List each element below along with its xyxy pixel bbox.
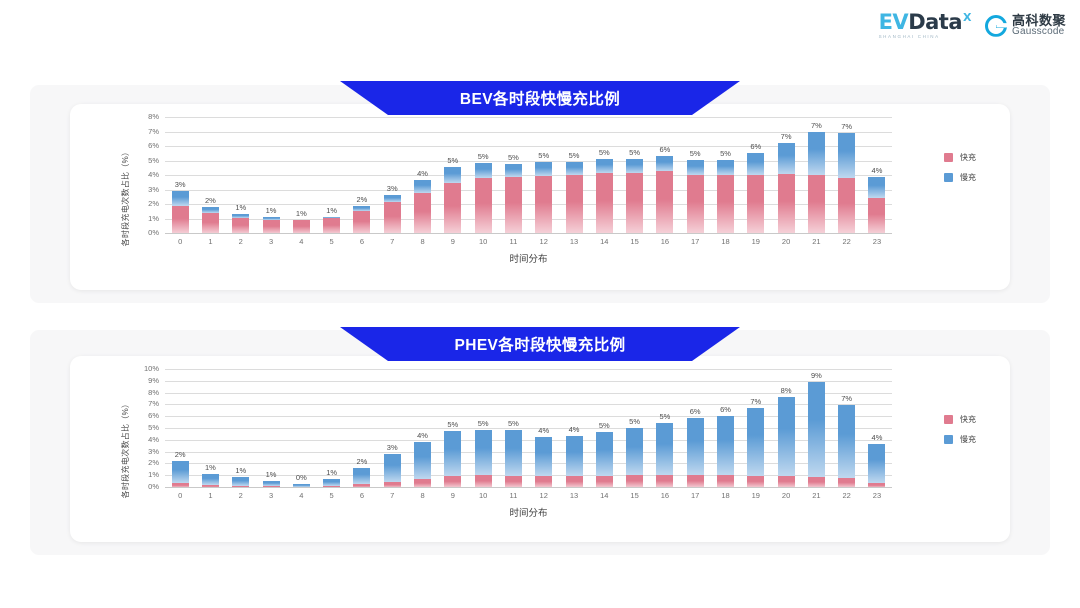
bar-value-label: 4% <box>569 425 580 434</box>
stacked-bar[interactable] <box>778 143 795 234</box>
bar-value-label: 7% <box>781 132 792 141</box>
bar-column[interactable]: 1% <box>256 370 286 488</box>
bar-segment-slow-charge[interactable] <box>778 397 795 476</box>
bar-segment-fast-charge[interactable] <box>596 173 613 234</box>
bar-segment-slow-charge[interactable] <box>475 163 492 178</box>
bar-column[interactable]: 5% <box>619 370 649 488</box>
y-axis-tick-label: 10% <box>144 364 159 373</box>
bev-chart: 各时段充电次数占比（%） 0%1%2%3%4%5%6%7%8% 3%2%1%1%… <box>70 104 1010 290</box>
stacked-bar[interactable] <box>535 437 552 488</box>
y-axis-tick-label: 7% <box>148 399 159 408</box>
stacked-bar[interactable] <box>687 160 704 234</box>
bar-column[interactable]: 3% <box>165 118 195 234</box>
stacked-bar[interactable] <box>566 162 583 235</box>
bar-segment-slow-charge[interactable] <box>444 431 461 475</box>
x-axis-tick-label: 10 <box>468 237 498 246</box>
bar-column[interactable]: 3% <box>377 370 407 488</box>
bar-segment-slow-charge[interactable] <box>717 416 734 475</box>
bar-value-label: 1% <box>266 206 277 215</box>
bar-segment-slow-charge[interactable] <box>535 437 552 477</box>
x-axis-tick-label: 6 <box>347 491 377 500</box>
bar-segment-fast-charge[interactable] <box>444 183 461 234</box>
stacked-bar[interactable] <box>596 159 613 234</box>
bar-segment-slow-charge[interactable] <box>414 180 431 193</box>
phev-legend: 快充 慢充 <box>944 414 976 445</box>
bar-segment-slow-charge[interactable] <box>232 477 249 485</box>
y-axis-tick-label: 8% <box>148 388 159 397</box>
bar-segment-slow-charge[interactable] <box>717 160 734 174</box>
bar-segment-slow-charge[interactable] <box>808 132 825 175</box>
bar-column[interactable]: 8% <box>771 370 801 488</box>
phev-legend-label-fast: 快充 <box>960 414 976 425</box>
bar-segment-fast-charge[interactable] <box>626 173 643 234</box>
y-axis-tick-label: 9% <box>148 376 159 385</box>
y-axis-tick-label: 6% <box>148 411 159 420</box>
y-axis-tick-label: 5% <box>148 423 159 432</box>
x-axis-tick-label: 23 <box>862 491 892 500</box>
bar-column[interactable]: 2% <box>347 370 377 488</box>
bar-segment-slow-charge[interactable] <box>868 177 885 198</box>
bev-bar-group: 3%2%1%1%1%1%2%3%4%5%5%5%5%5%5%5%6%5%5%6%… <box>165 118 892 234</box>
bar-column[interactable]: 7% <box>832 370 862 488</box>
bar-value-label: 4% <box>872 166 883 175</box>
bar-segment-slow-charge[interactable] <box>444 167 461 183</box>
bar-segment-fast-charge[interactable] <box>263 220 280 234</box>
bev-chart-card: 各时段充电次数占比（%） 0%1%2%3%4%5%6%7%8% 3%2%1%1%… <box>70 104 1010 290</box>
bar-column[interactable]: 2% <box>347 118 377 234</box>
bar-value-label: 5% <box>447 420 458 429</box>
bar-segment-fast-charge[interactable] <box>475 178 492 234</box>
stacked-bar[interactable] <box>656 423 673 488</box>
phev-chart: 各时段充电次数占比（%） 0%1%2%3%4%5%6%7%8%9%10% 2%1… <box>70 356 1010 542</box>
bev-legend-swatch-slow <box>944 173 953 182</box>
bar-value-label: 1% <box>326 468 337 477</box>
bar-column[interactable]: 9% <box>801 370 831 488</box>
evdata-logo-x: X <box>963 11 971 24</box>
brand-header: EVDataX SHANGHAI CHINA 高科数聚 Gausscode <box>879 12 1066 40</box>
stacked-bar[interactable] <box>596 432 613 488</box>
bar-column[interactable]: 1% <box>316 370 346 488</box>
bar-column[interactable]: 5% <box>529 118 559 234</box>
bar-column[interactable]: 4% <box>559 370 589 488</box>
bar-value-label: 4% <box>538 426 549 435</box>
bev-panel: 各时段充电次数占比（%） 0%1%2%3%4%5%6%7%8% 3%2%1%1%… <box>30 85 1050 303</box>
phev-y-axis-label: 各时段充电次数占比（%） <box>120 400 131 499</box>
bar-value-label: 5% <box>690 149 701 158</box>
bar-value-label: 6% <box>750 142 761 151</box>
bar-column[interactable]: 2% <box>165 370 195 488</box>
bar-segment-slow-charge[interactable] <box>687 418 704 475</box>
bar-column[interactable]: 5% <box>650 370 680 488</box>
bar-column[interactable]: 3% <box>377 118 407 234</box>
bar-column[interactable]: 7% <box>771 118 801 234</box>
bar-segment-fast-charge[interactable] <box>232 218 249 234</box>
phev-legend-label-slow: 慢充 <box>960 434 976 445</box>
bar-segment-fast-charge[interactable] <box>868 198 885 234</box>
x-axis-tick-label: 22 <box>832 491 862 500</box>
bar-column[interactable]: 5% <box>619 118 649 234</box>
bar-segment-fast-charge[interactable] <box>172 206 189 234</box>
stacked-bar[interactable] <box>535 162 552 235</box>
bar-column[interactable]: 5% <box>498 370 528 488</box>
bar-value-label: 5% <box>599 421 610 430</box>
bar-segment-fast-charge[interactable] <box>535 176 552 234</box>
stacked-bar[interactable] <box>838 405 855 488</box>
bar-value-label: 1% <box>235 203 246 212</box>
y-axis-tick-label: 5% <box>148 156 159 165</box>
bar-value-label: 2% <box>357 457 368 466</box>
stacked-bar[interactable] <box>475 163 492 234</box>
x-axis-tick-label: 9 <box>438 491 468 500</box>
bar-segment-fast-charge[interactable] <box>566 175 583 234</box>
bar-segment-slow-charge[interactable] <box>626 159 643 173</box>
stacked-bar[interactable] <box>778 397 795 488</box>
bev-legend: 快充 慢充 <box>944 152 976 183</box>
bar-segment-slow-charge[interactable] <box>475 430 492 475</box>
x-axis-tick-label: 7 <box>377 237 407 246</box>
bar-segment-fast-charge[interactable] <box>656 171 673 234</box>
bar-value-label: 5% <box>629 148 640 157</box>
bar-column[interactable]: 1% <box>316 118 346 234</box>
bar-segment-slow-charge[interactable] <box>172 191 189 205</box>
x-axis-tick-label: 12 <box>529 491 559 500</box>
bar-segment-fast-charge[interactable] <box>505 177 522 234</box>
stacked-bar[interactable] <box>566 436 583 488</box>
bar-segment-fast-charge[interactable] <box>384 202 401 234</box>
stacked-bar[interactable] <box>353 468 370 488</box>
bar-segment-slow-charge[interactable] <box>747 408 764 475</box>
bar-column[interactable]: 7% <box>832 118 862 234</box>
x-axis-tick-label: 14 <box>589 491 619 500</box>
stacked-bar[interactable] <box>747 408 764 488</box>
x-axis-tick-label: 5 <box>316 237 346 246</box>
stacked-bar[interactable] <box>656 156 673 234</box>
y-axis-tick-label: 3% <box>148 447 159 456</box>
bar-column[interactable]: 4% <box>529 370 559 488</box>
x-axis-tick-label: 6 <box>347 237 377 246</box>
bar-segment-slow-charge[interactable] <box>868 444 885 483</box>
bar-column[interactable]: 6% <box>710 370 740 488</box>
x-axis-tick-label: 8 <box>407 491 437 500</box>
evdata-logo-ev: EV <box>879 10 909 34</box>
bar-segment-slow-charge[interactable] <box>596 159 613 173</box>
bar-column[interactable]: 6% <box>741 118 771 234</box>
bev-legend-label-fast: 快充 <box>960 152 976 163</box>
stacked-bar[interactable] <box>505 164 522 234</box>
x-axis-tick-label: 4 <box>286 237 316 246</box>
stacked-bar[interactable] <box>323 217 340 234</box>
stacked-bar[interactable] <box>414 442 431 488</box>
stacked-bar[interactable] <box>172 191 189 234</box>
stacked-bar[interactable] <box>444 431 461 488</box>
bar-segment-fast-charge[interactable] <box>717 175 734 234</box>
bar-column[interactable]: 6% <box>650 118 680 234</box>
stacked-bar[interactable] <box>687 418 704 488</box>
bev-y-axis-label: 各时段充电次数占比（%） <box>120 148 131 247</box>
bar-value-label: 5% <box>538 151 549 160</box>
y-axis-tick-label: 0% <box>148 482 159 491</box>
bar-value-label: 2% <box>175 450 186 459</box>
bar-column[interactable]: 1% <box>256 118 286 234</box>
bar-segment-fast-charge[interactable] <box>687 175 704 234</box>
bar-column[interactable]: 5% <box>710 118 740 234</box>
bar-value-label: 3% <box>175 180 186 189</box>
bar-column[interactable]: 4% <box>862 118 892 234</box>
x-axis-tick-label: 2 <box>226 491 256 500</box>
y-axis-tick-label: 6% <box>148 141 159 150</box>
bar-value-label: 5% <box>720 149 731 158</box>
bar-value-label: 5% <box>447 156 458 165</box>
bar-value-label: 3% <box>387 443 398 452</box>
bar-value-label: 5% <box>508 419 519 428</box>
bar-column[interactable]: 1% <box>286 118 316 234</box>
bar-column[interactable]: 5% <box>438 370 468 488</box>
x-axis-tick-label: 1 <box>195 237 225 246</box>
stacked-bar[interactable] <box>384 195 401 234</box>
bar-segment-slow-charge[interactable] <box>656 156 673 171</box>
bar-segment-fast-charge[interactable] <box>293 220 310 234</box>
x-axis-tick-label: 1 <box>195 491 225 500</box>
bar-column[interactable]: 7% <box>801 118 831 234</box>
stacked-bar[interactable] <box>414 180 431 234</box>
bev-legend-item-fast[interactable]: 快充 <box>944 152 976 163</box>
bar-segment-slow-charge[interactable] <box>747 153 764 175</box>
bev-x-axis-ticks: 01234567891011121314151617181920212223 <box>165 234 892 246</box>
bar-value-label: 1% <box>205 463 216 472</box>
bar-segment-slow-charge[interactable] <box>414 442 431 479</box>
phev-legend-item-slow[interactable]: 慢充 <box>944 434 976 445</box>
x-axis-tick-label: 3 <box>256 237 286 246</box>
bar-value-label: 6% <box>690 407 701 416</box>
y-axis-tick-label: 2% <box>148 199 159 208</box>
bar-value-label: 5% <box>478 152 489 161</box>
stacked-bar[interactable] <box>868 444 885 488</box>
phev-chart-card: 各时段充电次数占比（%） 0%1%2%3%4%5%6%7%8%9%10% 2%1… <box>70 356 1010 542</box>
bar-segment-slow-charge[interactable] <box>535 162 552 177</box>
bar-segment-slow-charge[interactable] <box>384 454 401 481</box>
bar-segment-slow-charge[interactable] <box>323 479 340 486</box>
gausscode-name-cn: 高科数聚 <box>1012 14 1066 28</box>
x-axis-tick-label: 19 <box>741 491 771 500</box>
phev-plot-area: 0%1%2%3%4%5%6%7%8%9%10% 2%1%1%1%0%1%2%3%… <box>165 370 892 488</box>
bar-segment-slow-charge[interactable] <box>566 162 583 176</box>
stacked-bar[interactable] <box>626 428 643 488</box>
bar-segment-slow-charge[interactable] <box>384 195 401 202</box>
bar-value-label: 8% <box>781 386 792 395</box>
bar-column[interactable]: 5% <box>468 118 498 234</box>
x-axis-tick-label: 0 <box>165 237 195 246</box>
bar-value-label: 2% <box>205 196 216 205</box>
bar-column[interactable]: 6% <box>680 370 710 488</box>
stacked-bar[interactable] <box>475 430 492 488</box>
stacked-bar[interactable] <box>717 160 734 234</box>
bar-segment-fast-charge[interactable] <box>202 213 219 234</box>
x-axis-tick-label: 3 <box>256 491 286 500</box>
bar-segment-fast-charge[interactable] <box>808 175 825 234</box>
bar-column[interactable]: 5% <box>589 370 619 488</box>
bar-value-label: 4% <box>872 433 883 442</box>
bar-column[interactable]: 1% <box>226 370 256 488</box>
bar-segment-slow-charge[interactable] <box>808 382 825 477</box>
stacked-bar[interactable] <box>626 159 643 234</box>
bar-value-label: 5% <box>508 153 519 162</box>
bar-value-label: 9% <box>811 371 822 380</box>
bar-value-label: 0% <box>296 473 307 482</box>
x-axis-tick-label: 2 <box>226 237 256 246</box>
bar-segment-slow-charge[interactable] <box>626 428 643 475</box>
stacked-bar[interactable] <box>444 167 461 234</box>
x-axis-tick-label: 4 <box>286 491 316 500</box>
bar-value-label: 5% <box>599 148 610 157</box>
stacked-bar[interactable] <box>717 416 734 488</box>
y-axis-tick-label: 0% <box>148 228 159 237</box>
stacked-bar[interactable] <box>747 153 764 234</box>
bar-column[interactable]: 0% <box>286 370 316 488</box>
stacked-bar[interactable] <box>172 461 189 488</box>
y-axis-tick-label: 1% <box>148 214 159 223</box>
x-axis-tick-label: 16 <box>650 491 680 500</box>
y-axis-tick-label: 7% <box>148 127 159 136</box>
bar-segment-slow-charge[interactable] <box>353 468 370 484</box>
bar-column[interactable]: 4% <box>407 370 437 488</box>
x-axis-tick-label: 8 <box>407 237 437 246</box>
bar-value-label: 7% <box>841 394 852 403</box>
bar-segment-slow-charge[interactable] <box>596 432 613 476</box>
x-axis-tick-label: 10 <box>468 491 498 500</box>
bar-value-label: 5% <box>478 419 489 428</box>
x-axis-tick-label: 13 <box>559 491 589 500</box>
x-axis-tick-label: 18 <box>710 491 740 500</box>
bar-value-label: 5% <box>569 151 580 160</box>
gausscode-name-en: Gausscode <box>1012 27 1066 38</box>
x-axis-tick-label: 11 <box>498 491 528 500</box>
x-axis-tick-label: 21 <box>801 237 831 246</box>
x-axis-tick-label: 23 <box>862 237 892 246</box>
phev-x-axis-label: 时间分布 <box>165 505 892 519</box>
evdata-logo: EVDataX SHANGHAI CHINA <box>879 12 971 40</box>
stacked-bar[interactable] <box>808 132 825 234</box>
bar-column[interactable]: 5% <box>438 118 468 234</box>
phev-legend-item-fast[interactable]: 快充 <box>944 414 976 425</box>
y-axis-tick-label: 3% <box>148 185 159 194</box>
x-axis-tick-label: 12 <box>529 237 559 246</box>
x-axis-tick-label: 21 <box>801 491 831 500</box>
y-axis-tick-label: 4% <box>148 170 159 179</box>
bev-legend-item-slow[interactable]: 慢充 <box>944 172 976 183</box>
x-axis-tick-label: 22 <box>832 237 862 246</box>
bar-column[interactable]: 1% <box>195 370 225 488</box>
bar-value-label: 1% <box>266 470 277 479</box>
bev-legend-swatch-fast <box>944 153 953 162</box>
bar-value-label: 1% <box>235 466 246 475</box>
bar-segment-fast-charge[interactable] <box>323 218 340 234</box>
phev-panel: 各时段充电次数占比（%） 0%1%2%3%4%5%6%7%8%9%10% 2%1… <box>30 330 1050 555</box>
bar-segment-fast-charge[interactable] <box>353 211 370 234</box>
bar-column[interactable]: 5% <box>589 118 619 234</box>
bar-column[interactable]: 4% <box>862 370 892 488</box>
bar-value-label: 4% <box>417 169 428 178</box>
bar-column[interactable]: 7% <box>741 370 771 488</box>
y-axis-tick-label: 8% <box>148 112 159 121</box>
x-axis-tick-label: 17 <box>680 491 710 500</box>
bar-value-label: 7% <box>841 122 852 131</box>
x-axis-tick-label: 18 <box>710 237 740 246</box>
slide-page: EVDataX SHANGHAI CHINA 高科数聚 Gausscode 各时… <box>0 0 1080 608</box>
phev-legend-swatch-slow <box>944 435 953 444</box>
stacked-bar[interactable] <box>263 217 280 234</box>
bar-segment-slow-charge[interactable] <box>172 461 189 482</box>
x-axis-tick-label: 9 <box>438 237 468 246</box>
bar-segment-slow-charge[interactable] <box>778 143 795 174</box>
x-axis-tick-label: 7 <box>377 491 407 500</box>
y-axis-tick-label: 4% <box>148 435 159 444</box>
bar-segment-fast-charge[interactable] <box>838 178 855 234</box>
phev-title-ribbon: PHEV各时段快慢充比例 <box>340 327 740 361</box>
bar-column[interactable]: 5% <box>559 118 589 234</box>
stacked-bar[interactable] <box>202 207 219 234</box>
gausscode-wordmark: 高科数聚 Gausscode <box>1012 14 1066 38</box>
stacked-bar[interactable] <box>293 220 310 235</box>
bar-segment-slow-charge[interactable] <box>202 474 219 485</box>
bar-segment-slow-charge[interactable] <box>505 430 522 476</box>
bar-segment-slow-charge[interactable] <box>505 164 522 178</box>
bar-column[interactable]: 4% <box>407 118 437 234</box>
gausscode-mark-icon <box>985 15 1007 37</box>
bar-column[interactable]: 5% <box>498 118 528 234</box>
x-axis-tick-label: 19 <box>741 237 771 246</box>
bar-segment-fast-charge[interactable] <box>747 175 764 234</box>
bar-value-label: 7% <box>811 121 822 130</box>
bar-value-label: 5% <box>659 412 670 421</box>
x-axis-tick-label: 0 <box>165 491 195 500</box>
bev-plot-area: 0%1%2%3%4%5%6%7%8% 3%2%1%1%1%1%2%3%4%5%5… <box>165 118 892 234</box>
evdata-logo-tagline: SHANGHAI CHINA <box>879 35 940 40</box>
bar-segment-slow-charge[interactable] <box>687 160 704 174</box>
gausscode-logo: 高科数聚 Gausscode <box>985 14 1066 38</box>
bar-segment-fast-charge[interactable] <box>778 174 795 234</box>
bar-segment-slow-charge[interactable] <box>566 436 583 476</box>
bev-x-axis-label: 时间分布 <box>165 251 892 265</box>
bar-value-label: 4% <box>417 431 428 440</box>
x-axis-tick-label: 15 <box>619 491 649 500</box>
y-axis-tick-label: 1% <box>148 470 159 479</box>
stacked-bar[interactable] <box>838 133 855 235</box>
stacked-bar[interactable] <box>384 454 401 488</box>
bev-legend-label-slow: 慢充 <box>960 172 976 183</box>
x-axis-tick-label: 14 <box>589 237 619 246</box>
bar-segment-slow-charge[interactable] <box>838 405 855 478</box>
bar-column[interactable]: 1% <box>226 118 256 234</box>
bar-column[interactable]: 5% <box>468 370 498 488</box>
stacked-bar[interactable] <box>868 177 885 234</box>
bar-column[interactable]: 2% <box>195 118 225 234</box>
bar-value-label: 1% <box>326 206 337 215</box>
x-axis-tick-label: 5 <box>316 491 346 500</box>
bar-value-label: 5% <box>629 417 640 426</box>
stacked-bar[interactable] <box>808 382 825 488</box>
stacked-bar[interactable] <box>353 206 370 234</box>
bar-segment-slow-charge[interactable] <box>656 423 673 475</box>
bar-column[interactable]: 5% <box>680 118 710 234</box>
bar-segment-slow-charge[interactable] <box>838 133 855 179</box>
bar-value-label: 3% <box>387 184 398 193</box>
bar-value-label: 1% <box>296 209 307 218</box>
bar-segment-fast-charge[interactable] <box>414 193 431 234</box>
evdata-logo-wordmark: EVDataX <box>879 12 971 33</box>
stacked-bar[interactable] <box>505 430 522 488</box>
stacked-bar[interactable] <box>232 214 249 234</box>
stacked-bar[interactable] <box>202 474 219 488</box>
